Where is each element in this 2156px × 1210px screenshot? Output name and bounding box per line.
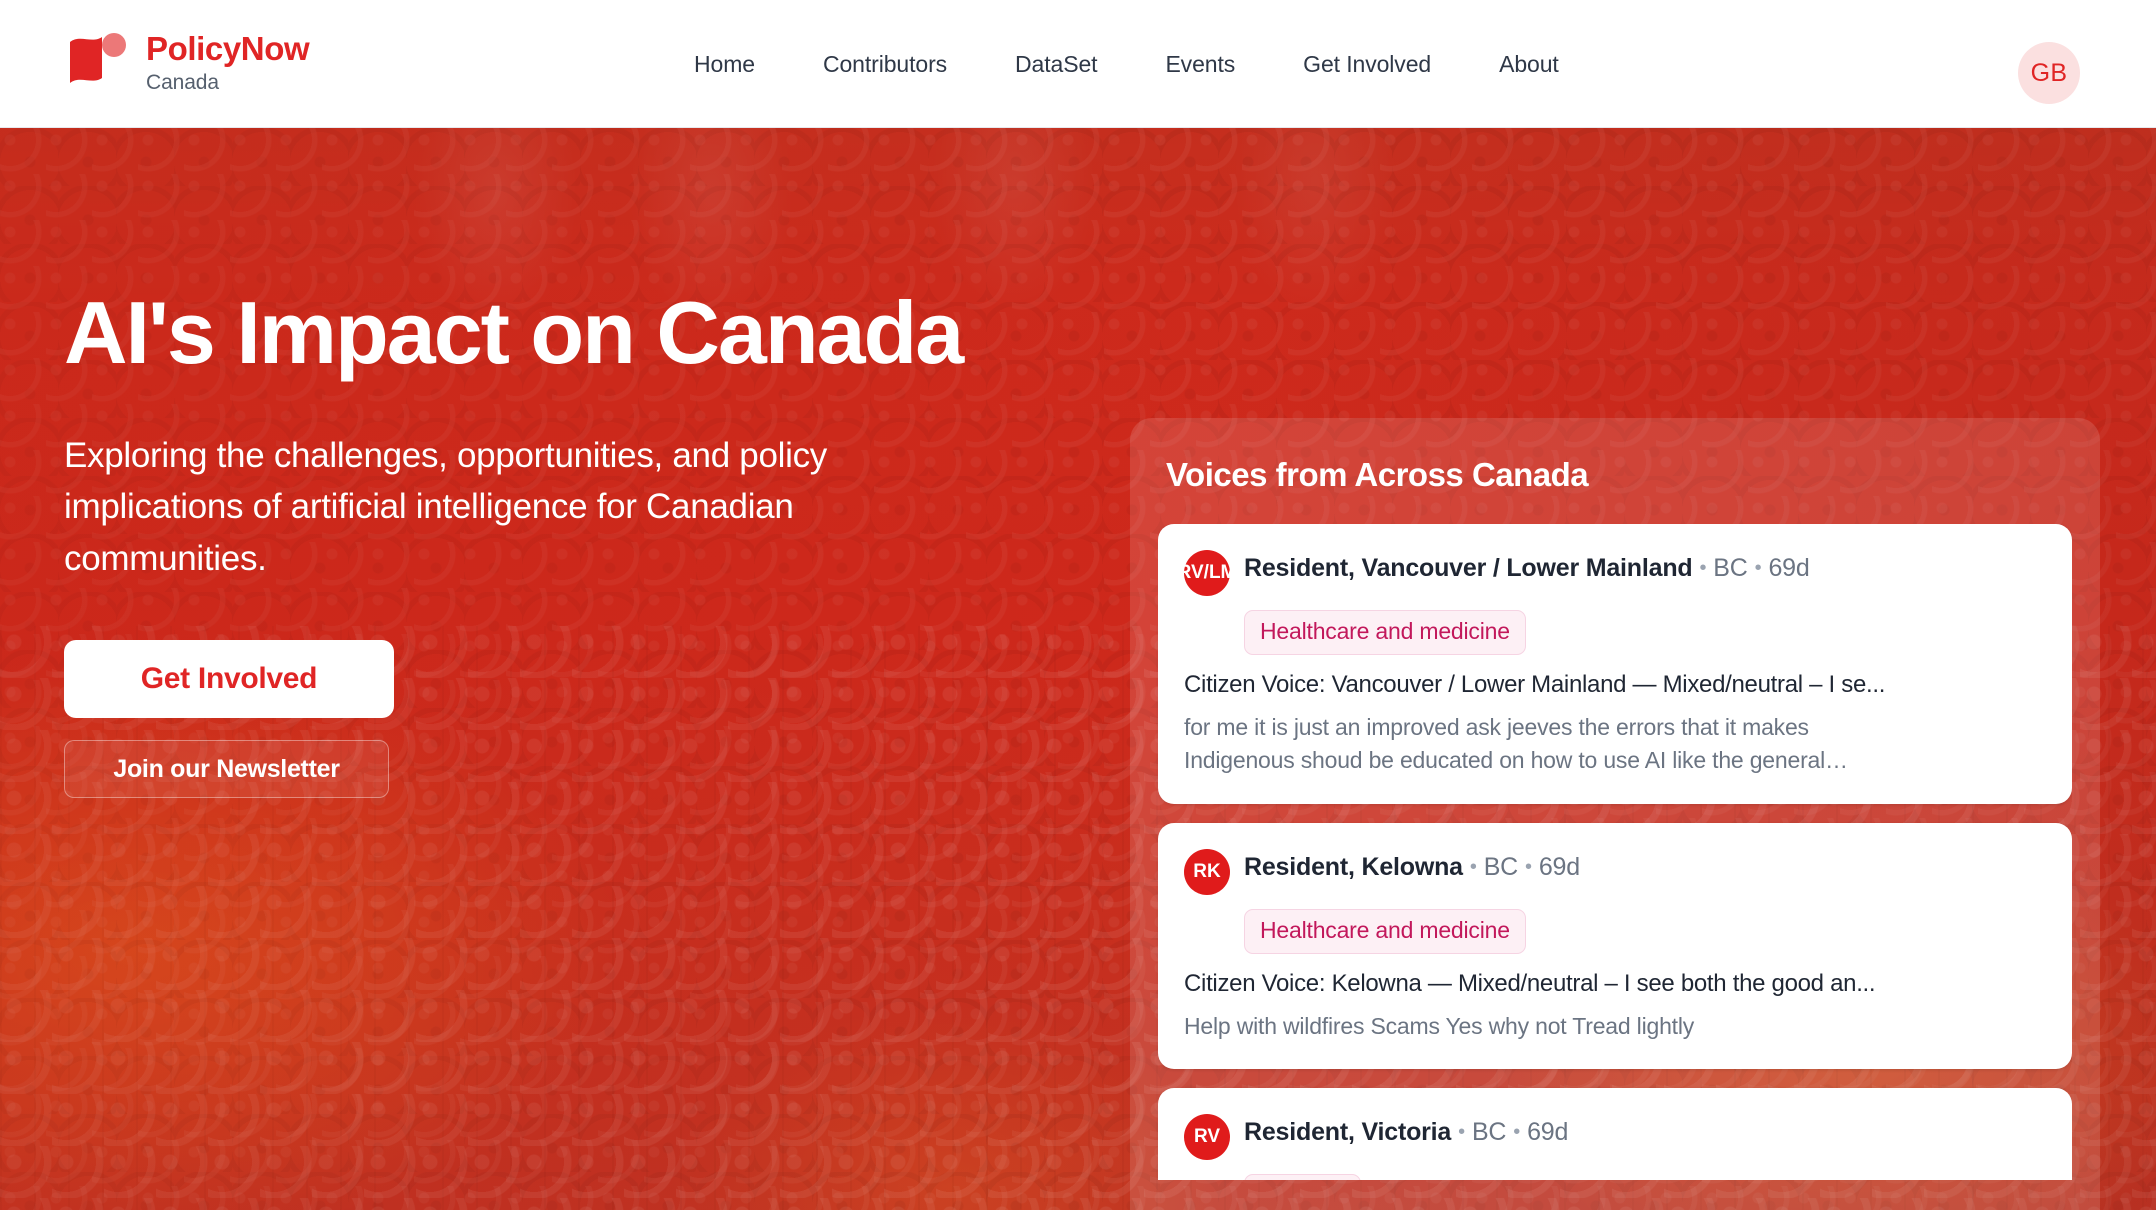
site-header: PolicyNow Canada Home Contributors DataS…: [0, 0, 2156, 128]
voice-body: Help with wildfires Scams Yes why not Tr…: [1184, 1010, 2046, 1043]
voice-card-header: RV Resident, Victoria•BC•69d: [1184, 1112, 2046, 1160]
voice-card-meta: Resident, Victoria•BC•69d: [1244, 1112, 1568, 1147]
nav-item-about[interactable]: About: [1465, 51, 1593, 78]
meta-separator-icon: •: [1699, 557, 1706, 579]
brand-logo[interactable]: PolicyNow Canada: [66, 26, 309, 94]
nav-item-contributors[interactable]: Contributors: [789, 51, 981, 78]
hero-section: AI's Impact on Canada Exploring the chal…: [0, 128, 2156, 1210]
voice-region: BC: [1472, 1118, 1506, 1146]
voice-card-header: RK Resident, Kelowna•BC•69d: [1184, 847, 2046, 895]
list-item[interactable]: RK Resident, Kelowna•BC•69d Healthcare a…: [1158, 823, 2072, 1069]
voice-card-header: RV/LM Resident, Vancouver / Lower Mainla…: [1184, 548, 2046, 596]
voices-panel: Voices from Across Canada RV/LM Resident…: [1130, 418, 2100, 1210]
flag-book-icon: [66, 32, 132, 94]
meta-separator-icon: •: [1458, 1121, 1465, 1143]
brand-name: PolicyNow: [146, 32, 309, 65]
get-involved-button[interactable]: Get Involved: [64, 640, 394, 718]
nav-item-get-involved[interactable]: Get Involved: [1269, 51, 1465, 78]
voices-list[interactable]: RV/LM Resident, Vancouver / Lower Mainla…: [1158, 524, 2072, 1180]
meta-separator-icon: •: [1525, 856, 1532, 878]
voice-age: 69d: [1527, 1118, 1568, 1146]
avatar: RV/LM: [1184, 550, 1230, 596]
voice-author: Resident, Vancouver / Lower Mainland: [1244, 554, 1692, 582]
voice-title: Citizen Voice: Kelowna — Mixed/neutral –…: [1184, 970, 2046, 998]
voices-footer: 1,011 Canadians have shared their though…: [1130, 1180, 2100, 1210]
hero-cta-group: Get Involved Join our Newsletter: [64, 640, 1054, 798]
meta-separator-icon: •: [1470, 856, 1477, 878]
join-newsletter-button[interactable]: Join our Newsletter: [64, 740, 389, 798]
voice-author: Resident, Kelowna: [1244, 853, 1463, 881]
voice-region: BC: [1713, 554, 1747, 582]
voice-card-meta: Resident, Vancouver / Lower Mainland•BC•…: [1244, 548, 1810, 583]
voice-region: BC: [1484, 853, 1518, 881]
voice-author: Resident, Victoria: [1244, 1118, 1451, 1146]
status-badge[interactable]: Healthcare and medicine: [1244, 909, 1526, 954]
hero-subtitle: Exploring the challenges, opportunities,…: [64, 430, 984, 584]
voice-age: 69d: [1539, 853, 1580, 881]
voice-card-meta: Resident, Kelowna•BC•69d: [1244, 847, 1580, 882]
voice-body-line: for me it is just an improved ask jeeves…: [1184, 711, 2046, 744]
meta-separator-icon: •: [1513, 1121, 1520, 1143]
voice-body: for me it is just an improved ask jeeves…: [1184, 711, 2046, 778]
hero-copy: AI's Impact on Canada Exploring the chal…: [64, 288, 1054, 798]
nav-item-home[interactable]: Home: [660, 51, 789, 78]
meta-separator-icon: •: [1755, 557, 1762, 579]
list-item[interactable]: RV Resident, Victoria•BC•69d Not sure Ci…: [1158, 1088, 2072, 1180]
voice-age: 69d: [1768, 554, 1809, 582]
page-title: AI's Impact on Canada: [64, 288, 1054, 378]
voice-title: Citizen Voice: Vancouver / Lower Mainlan…: [1184, 671, 2046, 699]
avatar[interactable]: GB: [2018, 42, 2080, 104]
voice-body-line: Help with wildfires Scams Yes why not Tr…: [1184, 1010, 2046, 1043]
brand-subtitle: Canada: [146, 72, 309, 93]
nav-item-dataset[interactable]: DataSet: [981, 51, 1131, 78]
voices-panel-title: Voices from Across Canada: [1130, 418, 2100, 494]
voice-body-line: Indigenous shoud be educated on how to u…: [1184, 744, 2046, 777]
list-item[interactable]: RV/LM Resident, Vancouver / Lower Mainla…: [1158, 524, 2072, 804]
avatar: RV: [1184, 1114, 1230, 1160]
status-badge[interactable]: Healthcare and medicine: [1244, 610, 1526, 655]
nav-item-events[interactable]: Events: [1131, 51, 1269, 78]
avatar: RK: [1184, 849, 1230, 895]
main-navigation: Home Contributors DataSet Events Get Inv…: [660, 0, 1593, 128]
